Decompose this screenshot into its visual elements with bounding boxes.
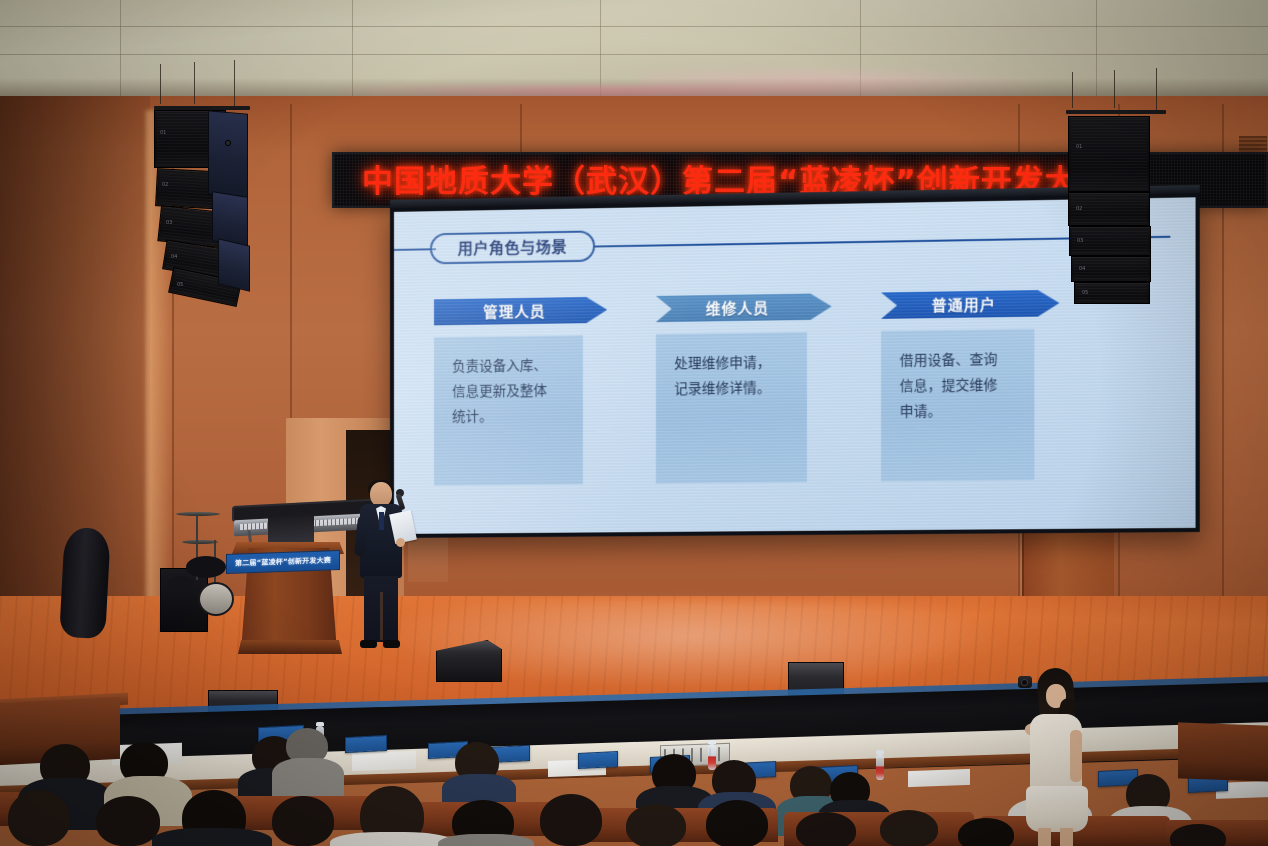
column-body-user: 借用设备、查询信息，提交维修申请。	[881, 329, 1034, 482]
drum-pad[interactable]	[186, 556, 226, 578]
audience-head	[8, 790, 70, 846]
column-body-text: 负责设备入库、信息更新及整体统计。	[452, 354, 557, 431]
drum-kick[interactable]	[198, 582, 234, 616]
column-body-admin: 负责设备入库、信息更新及整体统计。	[434, 335, 583, 485]
auditorium-photo: 中国地质大学（武汉）第二届“蓝凌杯”创新开发大赛 用户角色与场景 管理人员 负责…	[0, 0, 1268, 846]
rigging-wire	[194, 62, 195, 104]
photographer-leg	[1060, 828, 1073, 846]
photographer-leg	[1038, 828, 1051, 846]
audience-head	[958, 818, 1014, 846]
audience-head	[1170, 824, 1226, 846]
column-header-label: 普通用户	[932, 293, 996, 315]
slide-title: 用户角色与场景	[458, 236, 567, 259]
column-header-admin: 管理人员	[434, 297, 607, 326]
rigging-wire	[1114, 70, 1115, 108]
water-bottle	[876, 754, 884, 780]
slide-title-pill: 用户角色与场景	[430, 230, 595, 264]
rigging-wire	[234, 60, 235, 106]
standing-photographer	[1016, 668, 1096, 846]
slide-columns: 管理人员 负责设备入库、信息更新及整体统计。 维修人员 处理维修申请，记录维修详…	[434, 288, 1164, 509]
audience-head	[96, 796, 160, 846]
document-sheet	[908, 769, 970, 787]
drum-cymbal[interactable]	[176, 512, 220, 516]
audience-shoulders	[438, 834, 534, 846]
presenter-leg-gap	[380, 592, 383, 640]
column-header-label: 管理人员	[483, 300, 545, 322]
slide-column-user: 普通用户 借用设备、查询信息，提交维修申请。	[881, 290, 1059, 506]
line-array-speaker-cluster-right: 01 02 03 04 05	[1066, 96, 1176, 296]
rigging-bar	[1066, 110, 1166, 114]
judge-nameplate	[578, 751, 618, 769]
presenter	[352, 480, 414, 652]
audience-head	[540, 794, 602, 846]
presenter-necktie	[379, 512, 384, 530]
document-sheet	[352, 751, 416, 771]
speaker-module	[1068, 116, 1150, 192]
water-bottle	[708, 744, 716, 770]
audience-shoulders	[272, 758, 344, 798]
rigging-wire	[1156, 68, 1157, 110]
console-desk-right	[1178, 722, 1268, 781]
presenter-hand	[396, 538, 405, 547]
podium-sign: 第二届“蓝凌杯”创新开发大赛	[226, 550, 340, 574]
wall-panel-seam	[290, 104, 292, 424]
camera-lens	[1021, 679, 1028, 686]
speaker-subwoofer	[218, 238, 250, 291]
audience-head	[626, 804, 686, 846]
line-array-speaker-cluster-left: 01 02 03 04 05	[152, 82, 272, 292]
audience-shoulders	[152, 828, 272, 846]
bottle-cap	[876, 750, 884, 754]
bottle-cap	[316, 722, 324, 726]
column-body-text: 处理维修申请，记录维修详情。	[674, 351, 780, 403]
rigging-wire	[1072, 72, 1073, 108]
column-body-text: 借用设备、查询信息，提交维修申请。	[900, 348, 1008, 426]
drum-cymbal[interactable]	[182, 540, 218, 544]
column-body-maintenance: 处理维修申请，记录维修详情。	[656, 332, 807, 483]
presenter-shoe	[360, 640, 377, 648]
ceiling-seam	[0, 26, 1268, 27]
photographer-skirt	[1026, 786, 1088, 832]
drum-pad[interactable]	[168, 576, 194, 592]
slide-column-admin: 管理人员 负责设备入库、信息更新及整体统计。	[434, 297, 607, 510]
photographer-arm-down	[1070, 730, 1082, 782]
rigging-wire	[160, 64, 161, 104]
column-header-label: 维修人员	[706, 297, 769, 319]
guitar-case[interactable]	[59, 527, 111, 639]
podium-sign-text: 第二届“蓝凌杯”创新开发大赛	[235, 555, 331, 568]
audience-head	[272, 796, 334, 846]
ceiling-seam	[0, 54, 1268, 55]
column-header-maintenance: 维修人员	[656, 293, 832, 322]
audience-head	[880, 810, 938, 846]
slide-column-maintenance: 维修人员 处理维修申请，记录维修详情。	[656, 293, 832, 508]
presenter-shoe	[383, 640, 400, 648]
bottle-cap	[708, 740, 716, 744]
audience-head	[706, 800, 768, 846]
column-header-user: 普通用户	[881, 290, 1059, 319]
audience-head	[796, 812, 856, 846]
speaker-port	[225, 140, 231, 146]
podium-base	[238, 640, 342, 654]
speaker-subwoofer	[208, 110, 248, 197]
audience-shoulders	[330, 832, 454, 846]
judge-nameplate	[345, 735, 387, 753]
